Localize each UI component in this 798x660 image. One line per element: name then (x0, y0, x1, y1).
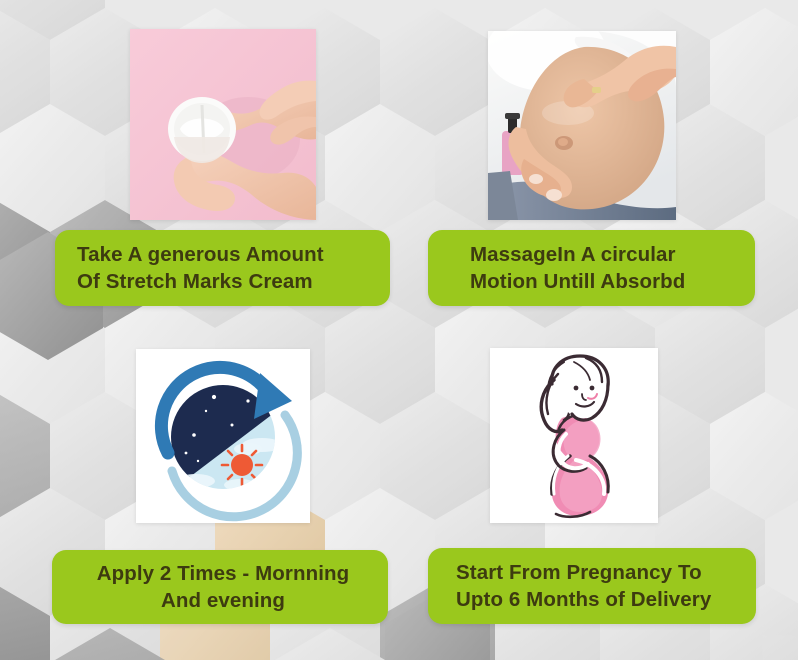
pregnant-woman-illustration (490, 348, 658, 523)
step-4-label-text: Start From Pregnancy To Upto 6 Months of… (428, 559, 756, 614)
step-2-label: MassageIn A circular Motion Untill Absor… (428, 230, 755, 306)
step-3-label: Apply 2 Times - Mornning And evening (52, 550, 388, 624)
infographic-canvas: Take A generous Amount Of Stretch Marks … (0, 0, 798, 660)
step-1-label: Take A generous Amount Of Stretch Marks … (55, 230, 390, 306)
step-3-label-text: Apply 2 Times - Mornning And evening (52, 560, 388, 615)
day-night-cycle-icon (136, 349, 310, 523)
cream-jar-photo (130, 29, 316, 220)
step-1-label-text: Take A generous Amount Of Stretch Marks … (55, 241, 390, 296)
step-4-label: Start From Pregnancy To Upto 6 Months of… (428, 548, 756, 624)
pregnant-belly-massage-photo (488, 31, 676, 220)
step-2-label-text: MassageIn A circular Motion Untill Absor… (428, 241, 755, 296)
